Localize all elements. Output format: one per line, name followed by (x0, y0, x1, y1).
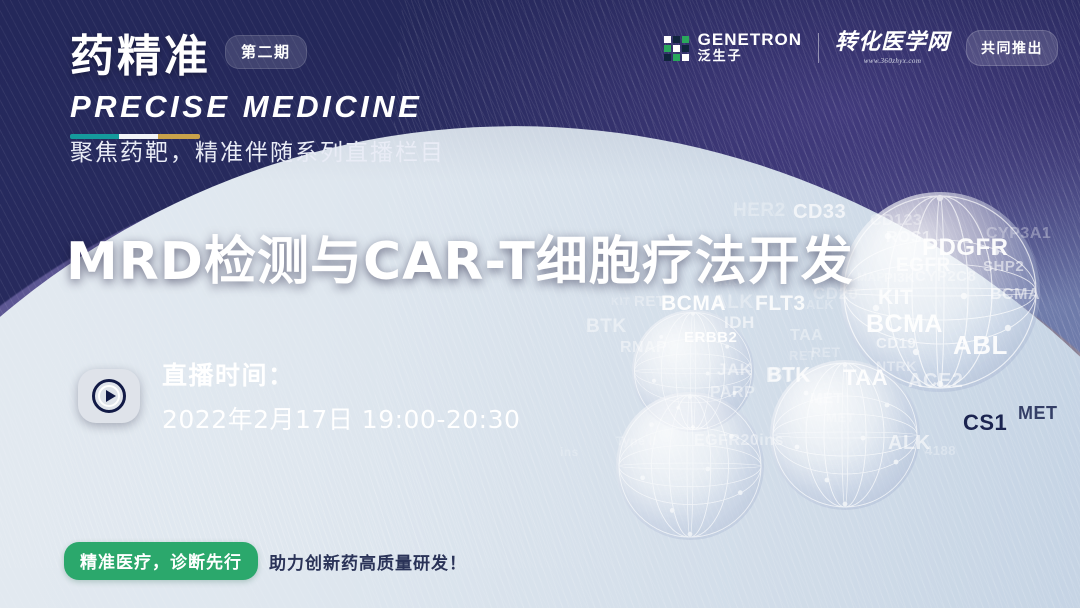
live-time-label: 直播时间： (162, 356, 520, 392)
brand-block: 药精准 第二期 PRECISE MEDICINE (70, 20, 422, 139)
genetron-logo-icon (664, 36, 689, 61)
slogan-text: 助力创新药高质量研发！ (269, 549, 467, 574)
brand-name-row: 药精准 第二期 (70, 20, 422, 84)
webinar-poster: HER2CD33CD123ROS1PDGFRCYP3A1EGFRSHP2MAPP… (0, 0, 1080, 608)
footer-slogan: 精准医疗，诊断先行 助力创新药高质量研发！ (64, 542, 467, 580)
tyw-url: www.360zhyx.com (835, 57, 950, 65)
brand-name-en: PRECISE MEDICINE (70, 89, 422, 125)
genetron-name-zh: 泛生子 (698, 49, 802, 65)
logo-divider (818, 33, 819, 63)
tyw-logo[interactable]: 转化医学网 www.360zhyx.com (835, 32, 950, 65)
series-subtitle: 聚焦药靶，精准伴随系列直播栏目 (70, 133, 445, 167)
brand-name-zh: 药精准 (70, 20, 211, 84)
live-datetime: 2022年2月17日 19:00-20:30 (162, 400, 520, 436)
joint-presentation-badge: 共同推出 (966, 30, 1058, 66)
play-circle-icon[interactable] (78, 369, 140, 423)
live-time-block: 直播时间： 2022年2月17日 19:00-20:30 (78, 356, 520, 436)
partner-logos: GENETRON 泛生子 转化医学网 www.360zhyx.com 共同推出 (664, 30, 1058, 66)
gene-label: CYP3A1 (986, 225, 1051, 243)
live-text: 直播时间： 2022年2月17日 19:00-20:30 (162, 356, 520, 436)
play-triangle-icon (106, 390, 116, 402)
issue-badge: 第二期 (225, 35, 307, 69)
page-title: MRD检测与CAR-T细胞疗法开发 (66, 219, 854, 294)
genetron-logo[interactable]: GENETRON 泛生子 (664, 31, 802, 64)
gene-label: SHP2 (983, 258, 1024, 275)
genetron-text: GENETRON 泛生子 (698, 31, 802, 64)
tyw-name-zh: 转化医学网 (835, 32, 950, 54)
slogan-pill: 精准医疗，诊断先行 (64, 542, 258, 580)
genetron-name-en: GENETRON (698, 31, 802, 49)
play-mark (92, 379, 126, 413)
